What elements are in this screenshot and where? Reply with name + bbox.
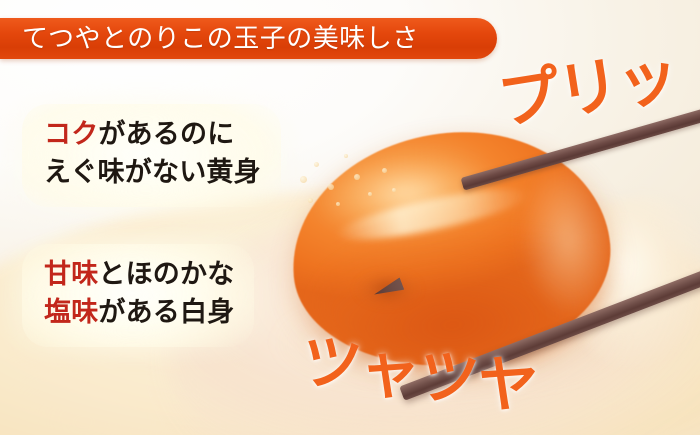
copy-highlight: 甘味 (44, 259, 98, 290)
copy-highlight: 塩味 (44, 297, 98, 328)
banner-title: てつやとのりこの玉子の美味しさ (0, 26, 419, 52)
copy-highlight: コク (44, 119, 98, 150)
copy-line: コクがあるのに (44, 116, 261, 154)
copy-line: 塩味がある白身 (44, 294, 234, 332)
copy-block-yolk: コクがあるのに えぐ味がない黄身 (22, 104, 281, 207)
promo-banner-image: てつやとのりこの玉子の美味しさ コクがあるのに えぐ味がない黄身 甘味とほのかな… (0, 0, 700, 435)
copy-text: とほのかな (98, 259, 234, 290)
header-banner: てつやとのりこの玉子の美味しさ (0, 18, 497, 59)
copy-line: 甘味とほのかな (44, 256, 234, 294)
copy-text: があるのに (98, 119, 234, 150)
yolk-bubbles (296, 142, 416, 218)
copy-text: えぐ味がない黄身 (44, 157, 261, 188)
copy-line: えぐ味がない黄身 (44, 154, 261, 192)
copy-block-white: 甘味とほのかな 塩味がある白身 (22, 244, 254, 347)
copy-text: がある白身 (98, 297, 234, 328)
